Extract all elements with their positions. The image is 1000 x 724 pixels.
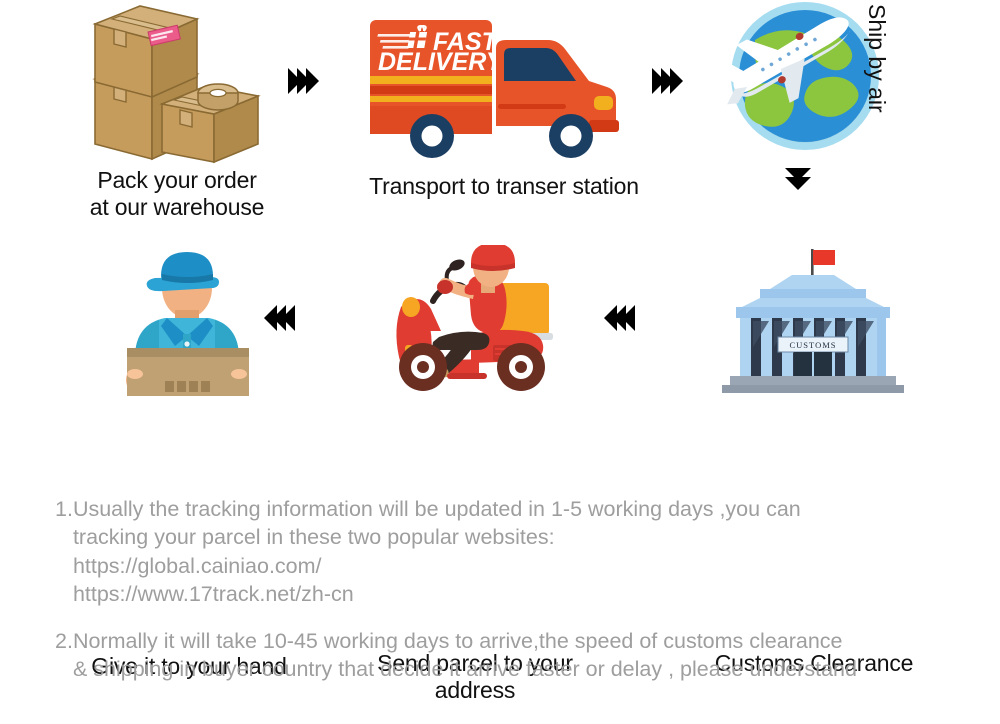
step-transport-label: Transport to transer station <box>358 173 650 200</box>
step-pack-label: Pack your order at our warehouse <box>62 167 292 221</box>
delivery-scooter-icon <box>375 245 575 395</box>
chevron-left-icon <box>282 305 295 331</box>
step-pack: Pack your order at our warehouse <box>62 4 292 164</box>
truck-logo-delivery: DELIVERY <box>378 48 505 76</box>
step-ship-by-air-label: Ship by air <box>863 4 890 113</box>
cardboard-boxes-icon <box>62 4 292 164</box>
arrow-customs-to-courier <box>608 305 635 331</box>
chevron-down-icon <box>785 177 811 190</box>
note-text: Usually the tracking information will be… <box>73 495 801 609</box>
shipping-process-infographic: Pack your order at our warehouse <box>0 0 1000 724</box>
chevron-right-icon <box>670 68 683 94</box>
delivery-person-icon <box>105 248 273 398</box>
arrow-pack-to-transport <box>288 68 315 94</box>
shipping-notes: 1. Usually the tracking information will… <box>55 495 985 701</box>
customs-sign-text: CUSTOMS <box>790 340 837 350</box>
chevron-right-icon <box>306 68 319 94</box>
step-customs: CUSTOMS Customs Clearance <box>708 245 920 395</box>
step-courier: Send parcel to your address <box>375 245 575 395</box>
step-ship-by-air: Ship by air <box>725 0 890 156</box>
arrow-air-to-customs <box>785 168 811 186</box>
note-number: 2. <box>55 627 73 684</box>
customs-building-icon: CUSTOMS <box>708 245 920 395</box>
note-text: Normally it will take 10-45 working days… <box>73 627 857 684</box>
arrow-transport-to-air <box>652 68 679 94</box>
chevron-left-icon <box>622 305 635 331</box>
note-item: 2. Normally it will take 10-45 working d… <box>55 627 985 684</box>
step-handover: Give it to your hand <box>105 248 273 398</box>
note-item: 1. Usually the tracking information will… <box>55 495 985 609</box>
note-number: 1. <box>55 495 73 609</box>
delivery-truck-icon: FAST DELIVERY <box>358 10 650 165</box>
step-transport: FAST DELIVERY Transport to trans <box>358 10 650 165</box>
